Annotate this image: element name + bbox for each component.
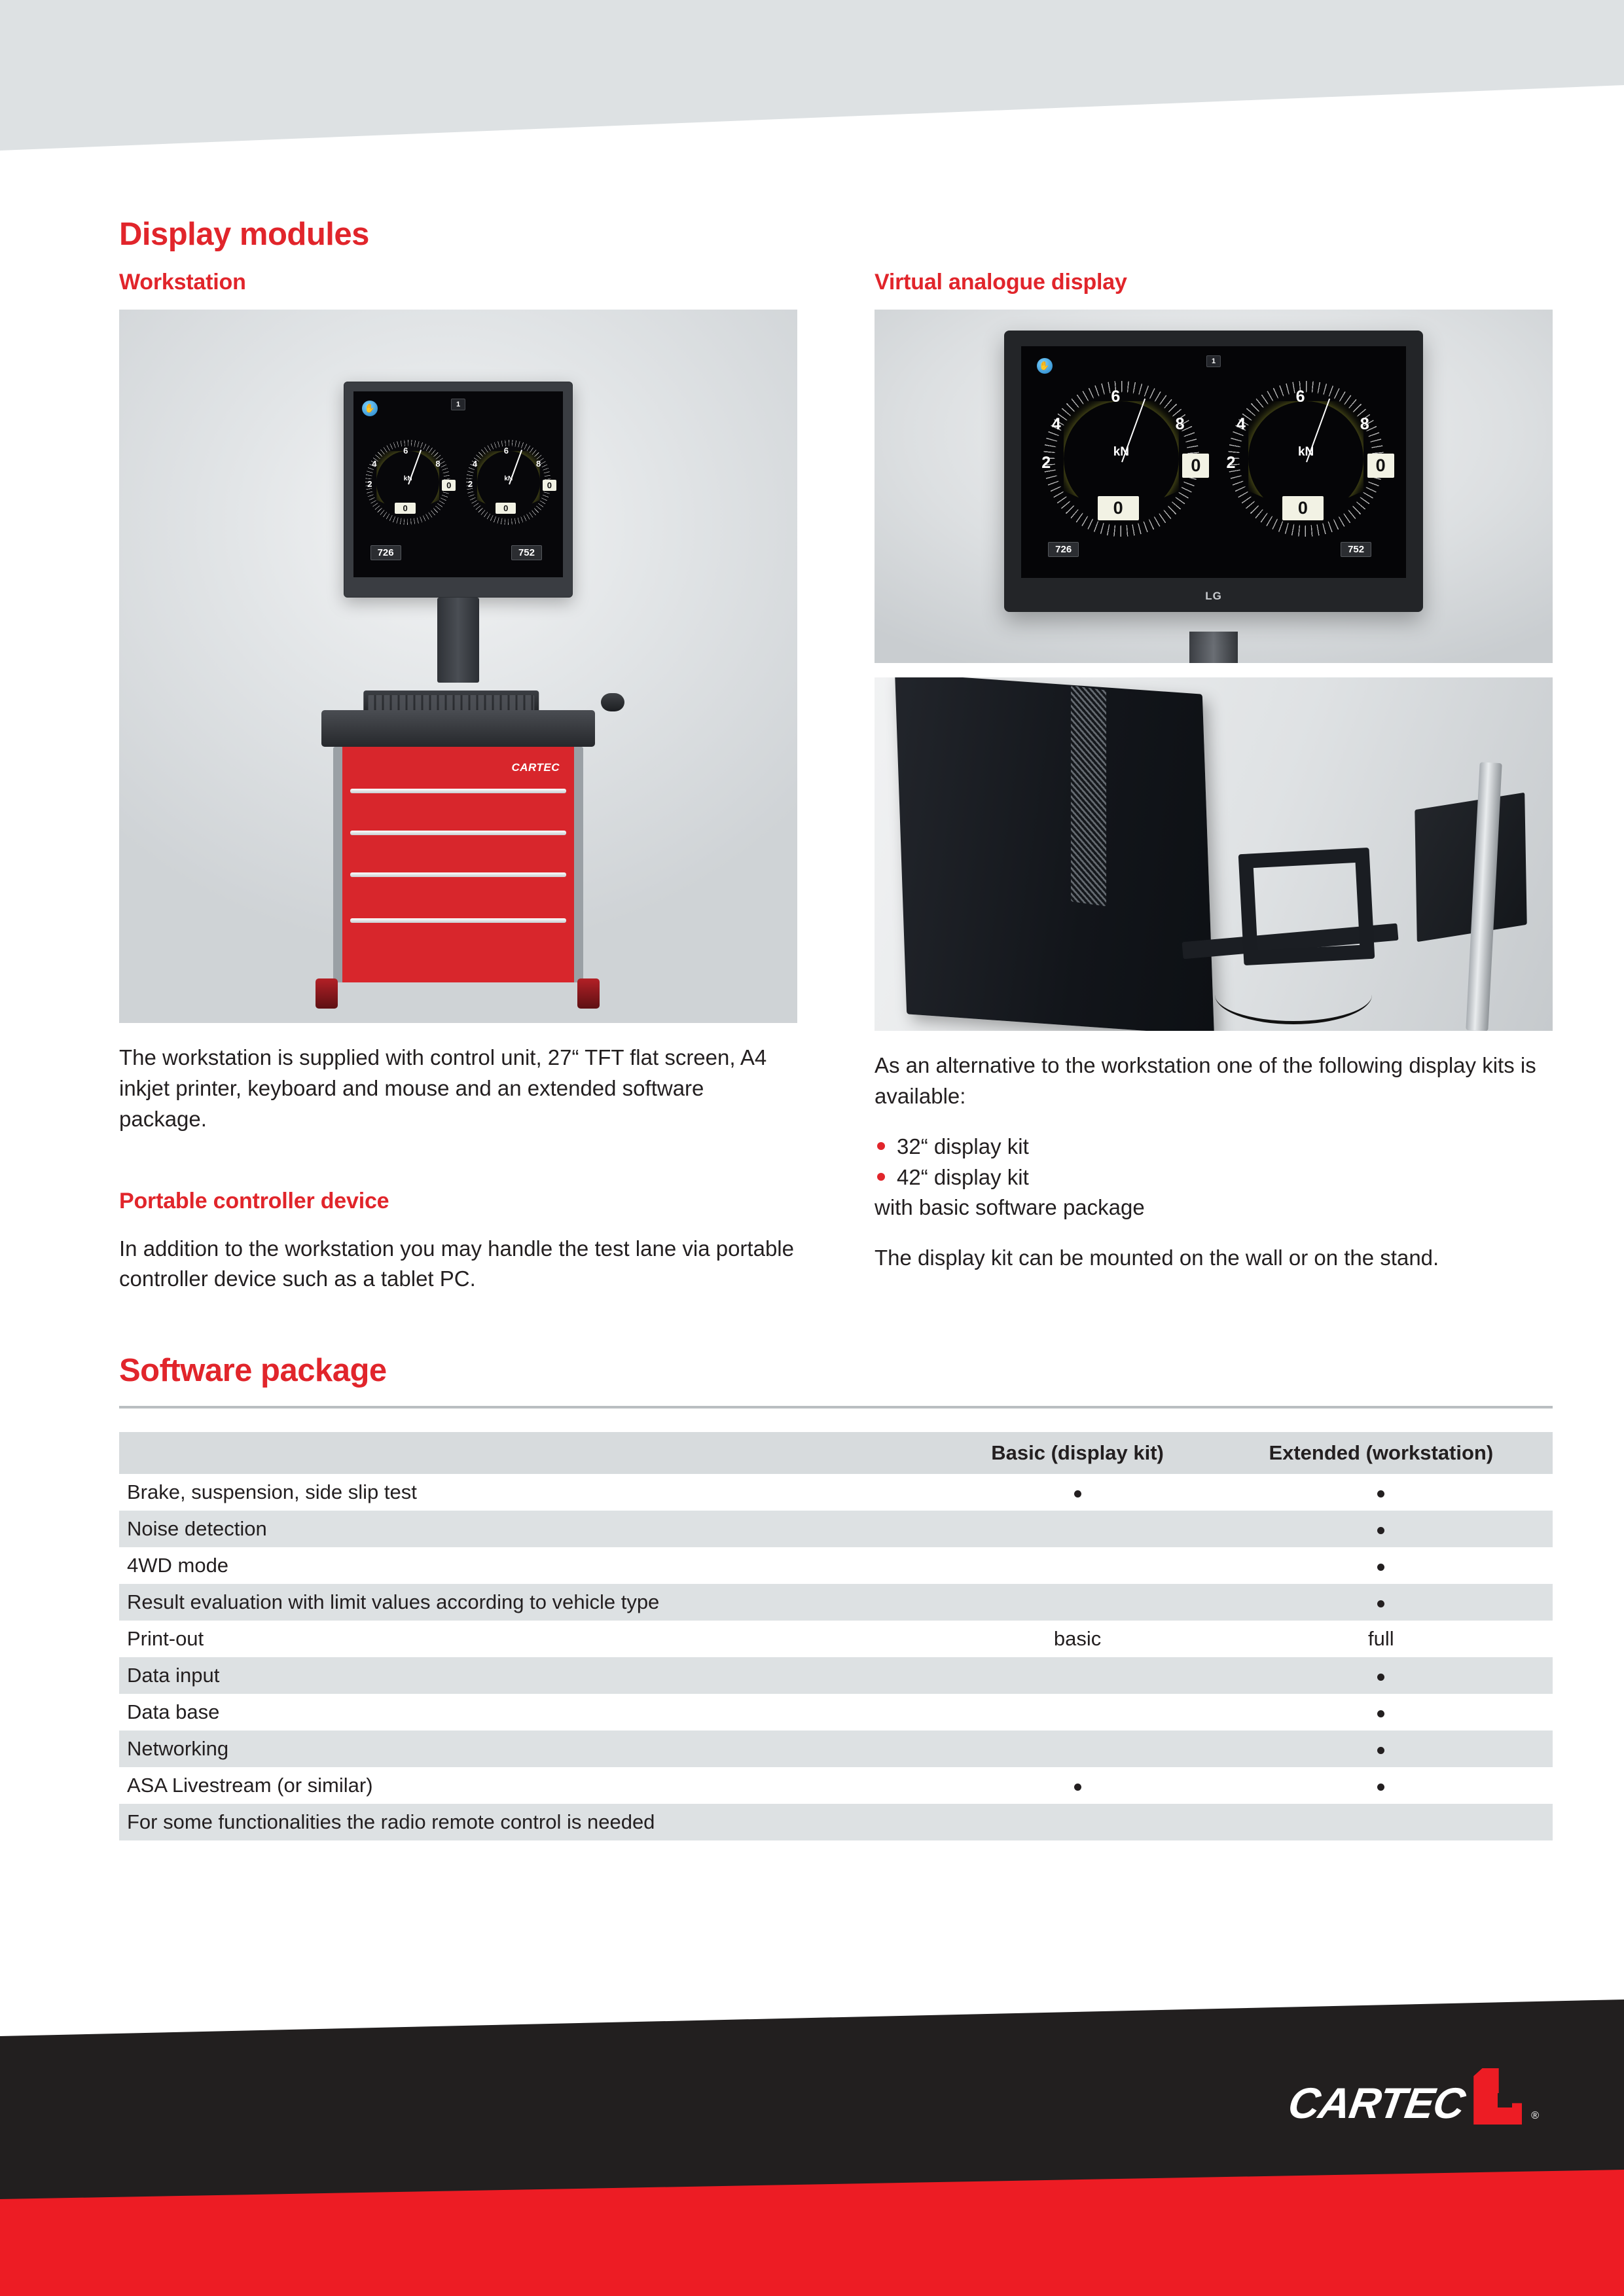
counter-right: 752	[511, 545, 542, 560]
mount-articulating-joint	[1238, 848, 1375, 965]
workstation-description: The workstation is supplied with control…	[119, 1043, 797, 1135]
caster-wheel	[577, 978, 600, 1009]
display-kits-list: 32“ display kit 42“ display kit	[875, 1132, 1553, 1193]
cable	[1215, 965, 1372, 1024]
cabinet-drawer	[350, 789, 566, 793]
row-extended	[1210, 1657, 1553, 1694]
cabinet-drawer	[350, 918, 566, 923]
mount-bracket	[1415, 793, 1526, 942]
cartec-logo: CARTEC ®	[1289, 2068, 1539, 2125]
hand-icon: ✋	[1037, 358, 1053, 374]
table-header: Basic (display kit) Extended (workstatio…	[119, 1432, 1553, 1474]
row-basic	[945, 1584, 1209, 1621]
two-column-layout: Workstation 2 4 6	[119, 270, 1553, 1295]
workstation-monitor: 2 4 6 8 kN 0 0	[344, 382, 573, 598]
row-extended	[1210, 1584, 1553, 1621]
column-header-basic: Basic (display kit)	[945, 1432, 1209, 1474]
row-basic: basic	[945, 1621, 1209, 1657]
virtual-analogue-display-photo: 2 4 6 8 kN 0 0	[875, 310, 1553, 663]
row-basic	[945, 1657, 1209, 1694]
check-dot-icon	[1377, 1674, 1384, 1681]
row-feature: Data input	[119, 1657, 945, 1694]
table-note-row: For some functionalities the radio remot…	[119, 1804, 1553, 1840]
bullet-icon	[877, 1142, 885, 1150]
gauge-tick-6: 6	[403, 446, 408, 456]
row-extended	[1210, 1694, 1553, 1731]
axle-badge: 1	[1206, 355, 1221, 367]
wall-mount-bracket-photo	[875, 677, 1553, 1031]
l-notch	[1498, 2093, 1512, 2108]
ventilation-mesh	[1071, 685, 1106, 906]
row-feature: Result evaluation with limit values acco…	[119, 1584, 945, 1621]
row-feature: Noise detection	[119, 1511, 945, 1547]
gauge-tick-2: 2	[1227, 454, 1236, 473]
row-basic	[945, 1474, 1209, 1511]
monitor-stand	[437, 598, 479, 683]
software-package-heading: Software package	[119, 1352, 1553, 1389]
tool-cabinet: CARTEC	[333, 747, 583, 982]
row-basic	[945, 1731, 1209, 1767]
portable-controller-description: In addition to the workstation you may h…	[119, 1234, 797, 1295]
gauge-bottom-value: 0	[496, 503, 516, 514]
kits-note: with basic software package	[875, 1193, 1553, 1223]
check-dot-icon	[1377, 1564, 1384, 1571]
gauge-tick-2: 2	[1041, 454, 1051, 473]
cabinet-drawer	[350, 831, 566, 835]
list-item: 32“ display kit	[875, 1132, 1553, 1162]
gauge-bottom-value: 0	[1282, 496, 1324, 520]
gauge-left: 2 4 6 8 kN 0 0	[1037, 378, 1206, 547]
cartec-wordmark: CARTEC	[1286, 2081, 1468, 2125]
axle-badge: 1	[451, 399, 465, 410]
check-dot-icon	[1074, 1784, 1081, 1791]
gauge-tick-8: 8	[1360, 415, 1369, 434]
table-note: For some functionalities the radio remot…	[119, 1804, 1553, 1840]
gauge-tick-6: 6	[1296, 387, 1305, 406]
row-extended	[1210, 1511, 1553, 1547]
table-row: Print-out basic full	[119, 1621, 1553, 1657]
gauge-value: 0	[543, 480, 556, 491]
row-extended	[1210, 1767, 1553, 1804]
counter-left: 726	[370, 545, 401, 560]
row-extended: full	[1210, 1621, 1553, 1657]
software-package-table: Basic (display kit) Extended (workstatio…	[119, 1432, 1553, 1840]
page-content: Display modules Workstation 2	[119, 216, 1553, 1840]
virtual-display-heading: Virtual analogue display	[875, 270, 1553, 295]
row-extended	[1210, 1547, 1553, 1584]
list-item: 42“ display kit	[875, 1162, 1553, 1193]
bullet-icon	[877, 1173, 885, 1181]
kit-label: 32“ display kit	[897, 1134, 1029, 1158]
row-feature: Data base	[119, 1694, 945, 1731]
column-workstation: Workstation 2 4 6	[119, 270, 797, 1295]
check-dot-icon	[1377, 1784, 1384, 1791]
table-row: ASA Livestream (or similar)	[119, 1767, 1553, 1804]
column-header-feature	[119, 1432, 945, 1474]
workstation-heading: Workstation	[119, 270, 797, 295]
check-dot-icon	[1377, 1710, 1384, 1717]
gauge-tick-6: 6	[504, 446, 509, 456]
gauge-tick-4: 4	[372, 459, 376, 469]
row-feature: Brake, suspension, side slip test	[119, 1474, 945, 1511]
flat-screen-display: 2 4 6 8 kN 0 0	[1004, 331, 1423, 612]
gauge-tick-2: 2	[468, 479, 473, 489]
kit-label: 42“ display kit	[897, 1165, 1029, 1189]
table-row: Data input	[119, 1657, 1553, 1694]
gauge-right: 2 4 6 8 kN 0 0	[1221, 378, 1391, 547]
registered-mark: ®	[1531, 2110, 1539, 2122]
display-screen: 2 4 6 8 kN 0 0	[1021, 346, 1406, 578]
display-kits-intro: As an alternative to the workstation one…	[875, 1050, 1553, 1112]
row-basic	[945, 1767, 1209, 1804]
row-extended	[1210, 1474, 1553, 1511]
table-row: Networking	[119, 1731, 1553, 1767]
table-header-row: Basic (display kit) Extended (workstatio…	[119, 1432, 1553, 1474]
display-brand-logo: LG	[1205, 590, 1222, 603]
gauge-value: 0	[1367, 454, 1394, 478]
row-feature: 4WD mode	[119, 1547, 945, 1584]
cartec-l-mark-icon	[1473, 2068, 1522, 2125]
gauge-value: 0	[1182, 454, 1209, 478]
check-dot-icon	[1377, 1600, 1384, 1607]
row-feature: Networking	[119, 1731, 945, 1767]
check-dot-icon	[1377, 1490, 1384, 1498]
cabinet-brand-logo: CARTEC	[511, 761, 560, 774]
table-row: Brake, suspension, side slip test	[119, 1474, 1553, 1511]
caster-wheel	[316, 978, 338, 1009]
table-row: Data base	[119, 1694, 1553, 1731]
display-stand	[1189, 632, 1238, 663]
gauge-tick-8: 8	[1176, 415, 1185, 434]
row-feature: ASA Livestream (or similar)	[119, 1767, 945, 1804]
table-top-rule	[119, 1406, 1553, 1408]
counter-right: 752	[1341, 542, 1371, 557]
workstation-photo: 2 4 6 8 kN 0 0	[119, 310, 797, 1023]
gauge-tick-4: 4	[473, 459, 477, 469]
cabinet-top	[321, 710, 595, 747]
table-row: Result evaluation with limit values acco…	[119, 1584, 1553, 1621]
gauge-bottom-value: 0	[395, 503, 415, 514]
top-grey-band	[0, 0, 1624, 151]
row-basic	[945, 1694, 1209, 1731]
gauge-tick-4: 4	[1236, 415, 1246, 434]
check-dot-icon	[1377, 1747, 1384, 1754]
gauge-tick-6: 6	[1111, 387, 1120, 406]
portable-controller-heading: Portable controller device	[119, 1189, 797, 1214]
gauge-left: 2 4 6 8 kN 0 0	[362, 439, 454, 531]
check-dot-icon	[1377, 1527, 1384, 1534]
table-row: Noise detection	[119, 1511, 1553, 1547]
row-basic	[945, 1511, 1209, 1547]
row-basic	[945, 1547, 1209, 1584]
gauge-tick-8: 8	[536, 459, 541, 469]
counter-left: 726	[1048, 542, 1079, 557]
gauge-value: 0	[442, 480, 456, 491]
cabinet-drawer	[350, 872, 566, 877]
gauge-tick-8: 8	[435, 459, 440, 469]
gauge-tick-2: 2	[367, 479, 372, 489]
page-title: Display modules	[119, 216, 1553, 253]
table-body: Brake, suspension, side slip test Noise …	[119, 1474, 1553, 1840]
monitor-screen: 2 4 6 8 kN 0 0	[353, 391, 563, 577]
check-dot-icon	[1074, 1490, 1081, 1498]
gauge-bottom-value: 0	[1098, 496, 1139, 520]
row-feature: Print-out	[119, 1621, 945, 1657]
column-header-extended: Extended (workstation)	[1210, 1432, 1553, 1474]
gauge-tick-4: 4	[1052, 415, 1061, 434]
table-row: 4WD mode	[119, 1547, 1553, 1584]
row-extended	[1210, 1731, 1553, 1767]
mounting-description: The display kit can be mounted on the wa…	[875, 1243, 1553, 1274]
column-virtual-display: Virtual analogue display 2 4	[875, 270, 1553, 1295]
display-rear-panel	[895, 677, 1214, 1031]
hand-icon: ✋	[362, 401, 378, 416]
mouse	[601, 693, 624, 711]
gauge-right: 2 4 6 8 kN 0 0	[462, 439, 554, 531]
brochure-page: Display modules Workstation 2	[0, 0, 1624, 2296]
